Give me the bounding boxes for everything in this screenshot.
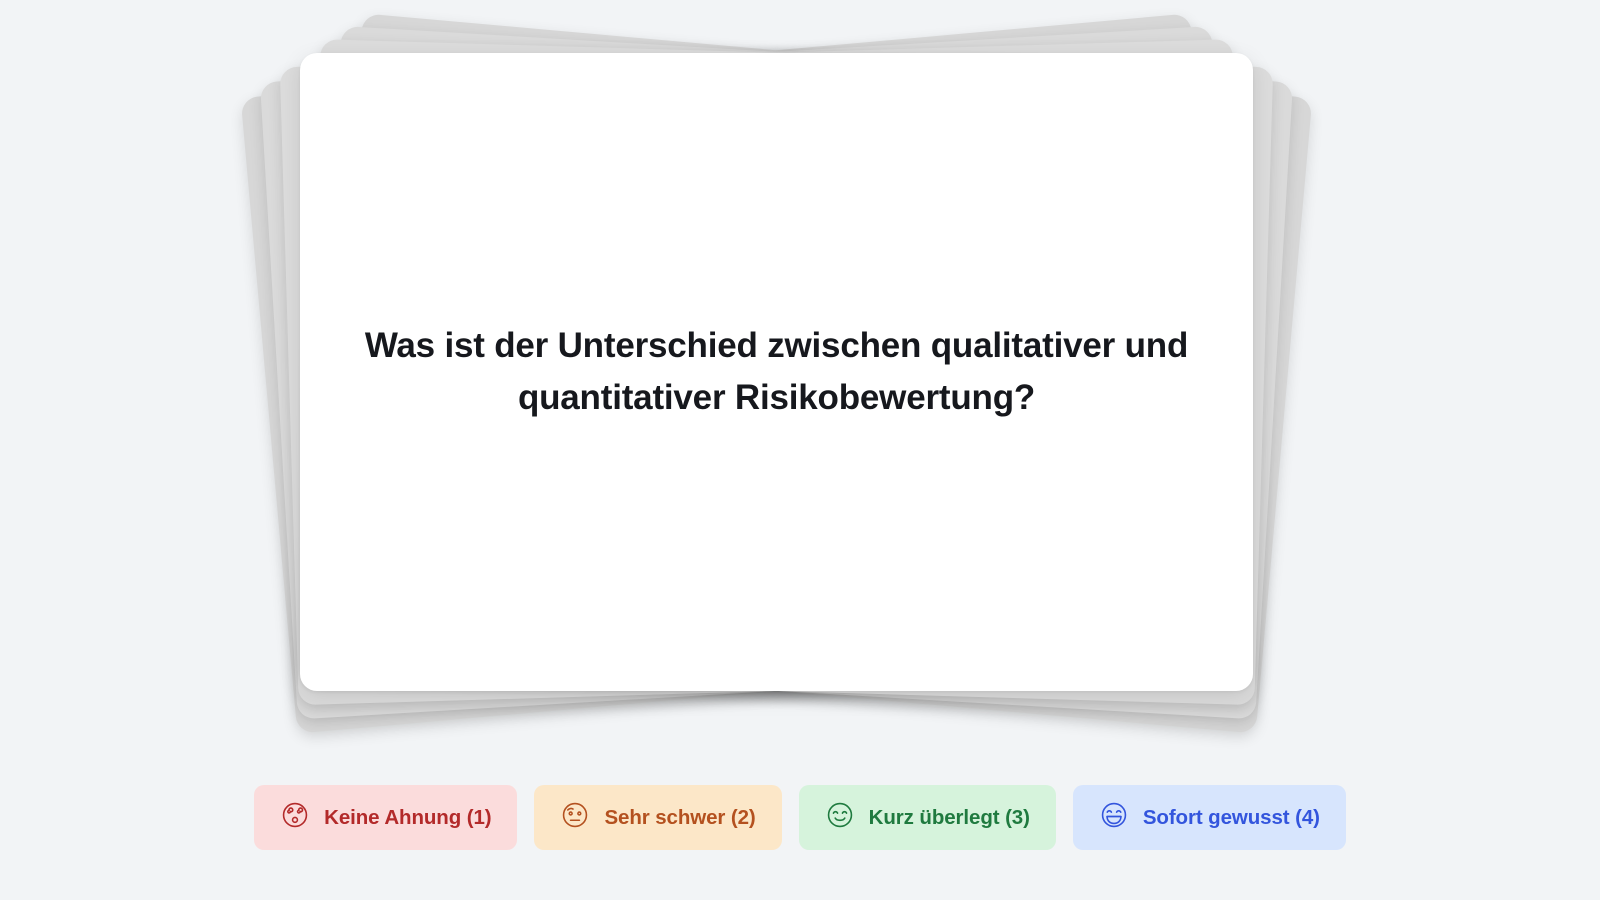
flashcard-stage: Was ist der Unterschied zwischen qualita… [0,0,1600,745]
flashcard-question-text: Was ist der Unterschied zwischen qualita… [356,320,1197,424]
rating-button-keine-ahnung[interactable]: Keine Ahnung (1) [254,785,517,850]
rating-button-bar: Keine Ahnung (1) Sehr schwer (2) Kurz üb… [0,785,1600,850]
raised-eyebrow-face-icon [560,800,590,836]
smiling-face-icon [825,800,855,836]
rating-button-sofort-gewusst[interactable]: Sofort gewusst (4) [1073,785,1346,850]
rating-button-kurz-ueberlegt[interactable]: Kurz überlegt (3) [799,785,1056,850]
rating-button-sehr-schwer[interactable]: Sehr schwer (2) [534,785,781,850]
flashcard-stack: Was ist der Unterschied zwischen qualita… [300,53,1253,691]
dizzy-face-icon [280,800,310,836]
rating-button-label: Sofort gewusst (4) [1143,806,1320,830]
rating-button-label: Sehr schwer (2) [604,806,755,830]
laughing-face-icon [1099,800,1129,836]
rating-button-label: Keine Ahnung (1) [324,806,491,830]
flashcard-front[interactable]: Was ist der Unterschied zwischen qualita… [300,53,1253,691]
rating-button-label: Kurz überlegt (3) [869,806,1030,830]
